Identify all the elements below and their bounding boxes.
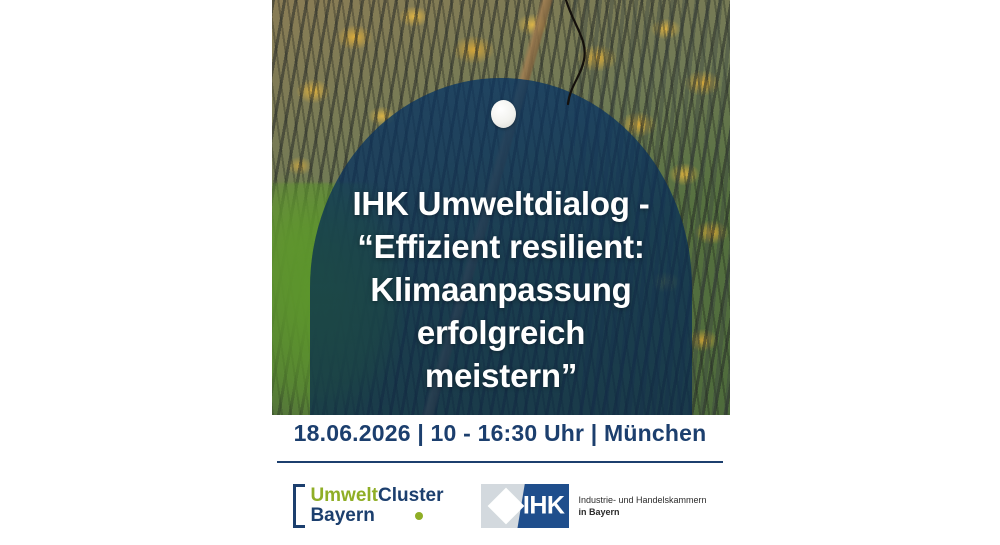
event-poster: IHK Umweltdialog - “Effizient resilient:…: [0, 0, 1000, 545]
ihk-subtitle-line1: Industrie- und Handelskammern: [578, 494, 706, 506]
title-line-5: meistern”: [320, 354, 682, 397]
umweltcluster-wordmark: UmweltCluster Bayern: [310, 484, 443, 528]
title-line-3: Klimaanpassung: [320, 268, 682, 311]
title-line-2: “Effizient resilient:: [320, 225, 682, 268]
event-date-time-location: 18.06.2026 | 10 - 16:30 Uhr | München: [0, 420, 1000, 447]
divider: [277, 461, 723, 463]
logo-umweltcluster-bayern[interactable]: UmweltCluster Bayern: [293, 484, 443, 528]
page-title: IHK Umweltdialog - “Effizient resilient:…: [320, 182, 682, 397]
umweltcluster-umwelt: Umwelt: [310, 485, 378, 506]
umweltcluster-cluster: Cluster: [378, 485, 443, 506]
ihk-subtitle-line2: in Bayern: [578, 506, 706, 518]
ihk-mark: IHK: [481, 484, 569, 528]
ihk-subtitle: Industrie- und Handelskammern in Bayern: [578, 494, 706, 518]
hero-photo-aerial-forest: IHK Umweltdialog - “Effizient resilient:…: [272, 0, 730, 415]
logo-row: UmweltCluster Bayern IHK Industrie- und …: [277, 478, 723, 534]
pin-line-icon: [504, 0, 644, 120]
umweltcluster-line2: Bayern: [310, 506, 443, 526]
ihk-letters: IHK: [523, 494, 565, 519]
umweltcluster-bayern: Bayern: [310, 506, 374, 526]
white-circle-marker: [491, 100, 516, 128]
umweltcluster-line1: UmweltCluster: [310, 486, 443, 506]
title-line-1: IHK Umweltdialog -: [320, 182, 682, 225]
title-line-4: erfolgreich: [320, 311, 682, 354]
green-dot-icon: [415, 512, 423, 520]
bracket-icon: [293, 484, 305, 528]
logo-ihk[interactable]: IHK Industrie- und Handelskammern in Bay…: [481, 484, 706, 528]
